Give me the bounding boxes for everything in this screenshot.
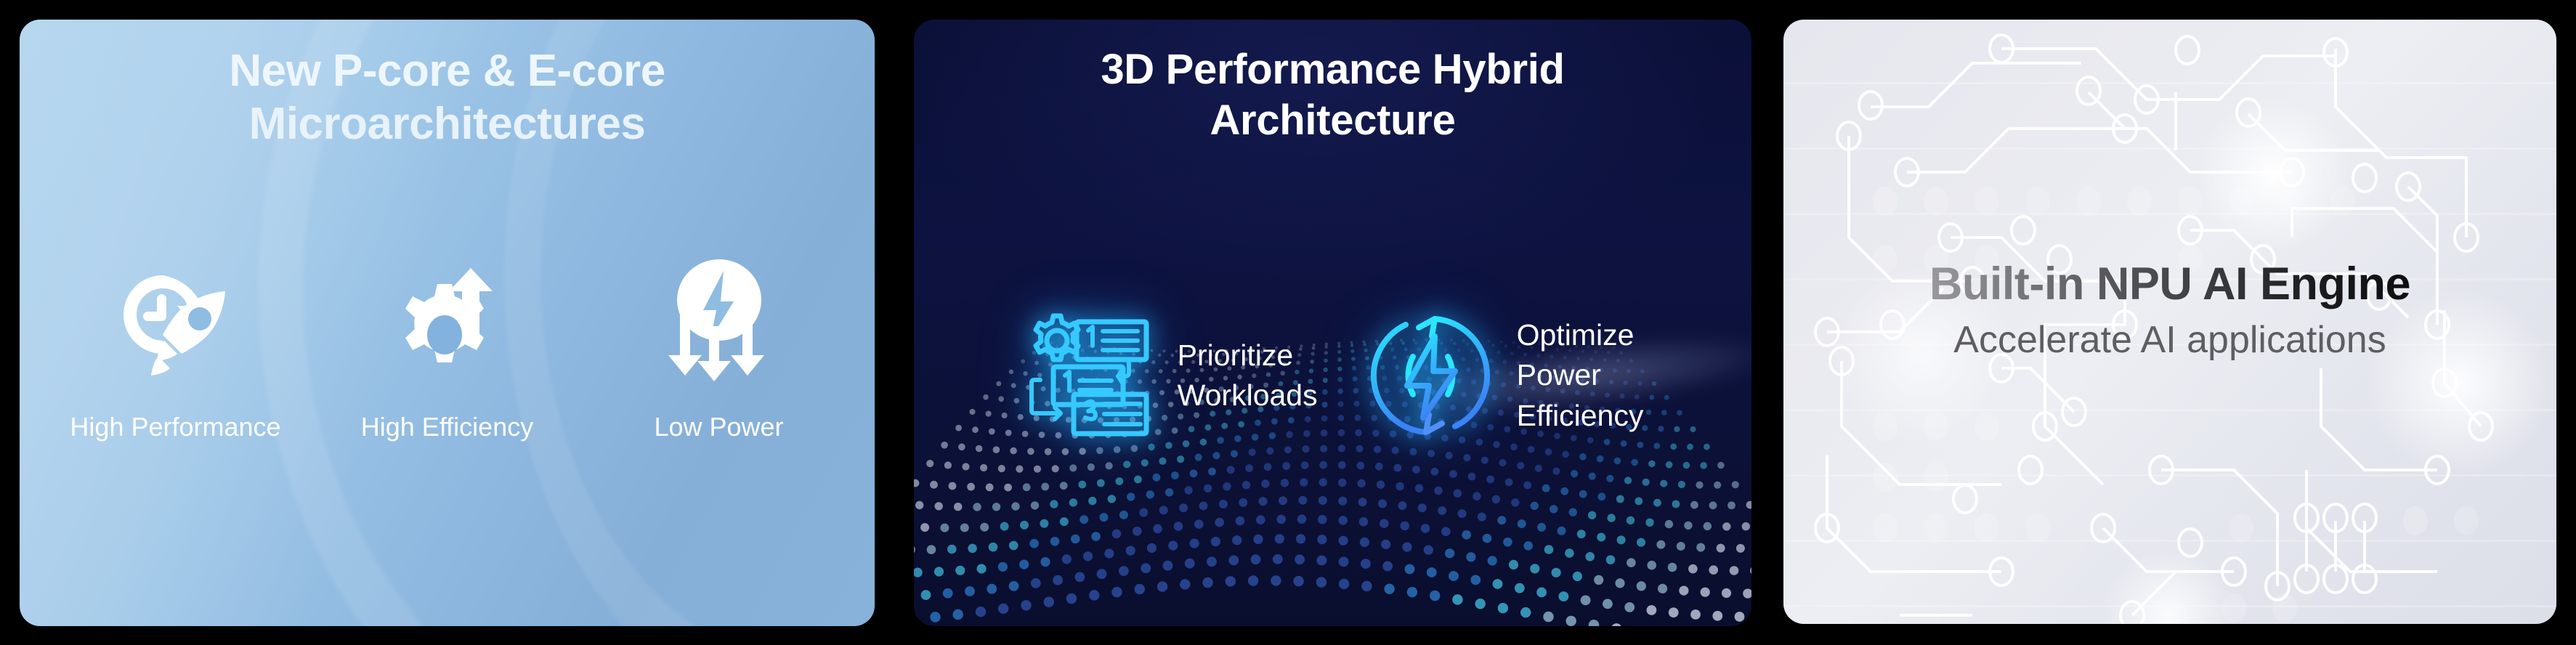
feature-label-line3: Efficiency [1517,396,1644,436]
gear-up-arrow-icon [386,259,509,381]
gear-task-list-icon [1022,303,1160,448]
feature-low-power[interactable]: Low Power [610,259,828,442]
feature-label: Optimize Power Efficiency [1517,315,1644,436]
card-hybrid-architecture[interactable]: 3D Performance Hybrid Architecture [914,20,1751,626]
feature-label-line2: Workloads [1178,376,1318,415]
feature-label: Prioritize Workloads [1178,336,1318,416]
card-npu-ai-engine[interactable]: Built-in NPU AI Engine Accelerate AI app… [1783,20,2556,624]
feature-prioritize-workloads[interactable]: Prioritize Workloads [1022,303,1318,448]
clock-rocket-icon [115,259,237,381]
panel2-title: 3D Performance Hybrid Architecture [914,44,1751,145]
feature-label-line1: Prioritize [1178,336,1318,376]
feature-label-line2: Power [1517,355,1644,395]
feature-card-row: New P-core & E-core Microarchitectures [0,0,2576,645]
feature-high-performance[interactable]: High Performance [67,259,285,442]
power-cycle-bolt-icon [1361,303,1499,448]
panel1-title-line1: New P-core & E-core [20,44,875,97]
card-p-core-e-core[interactable]: New P-core & E-core Microarchitectures [20,20,875,626]
panel3-subtitle: Accelerate AI applications [1783,320,2556,361]
feature-high-efficiency[interactable]: High Efficiency [339,259,556,442]
lightning-down-arrows-icon [661,259,777,381]
panel3-title: Built-in NPU AI Engine [1929,259,2410,309]
feature-label: High Efficiency [361,412,533,442]
feature-label-line1: Optimize [1517,315,1644,355]
panel1-title-line2: Microarchitectures [20,97,875,150]
panel2-title-line2: Architecture [914,95,1751,146]
feature-optimize-power-efficiency[interactable]: Optimize Power Efficiency [1361,303,1644,448]
panel2-title-line1: 3D Performance Hybrid [914,44,1751,95]
panel3-text-block: Built-in NPU AI Engine Accelerate AI app… [1783,259,2556,361]
panel1-title: New P-core & E-core Microarchitectures [20,44,875,150]
panel1-feature-list: High Performance High Efficiency [20,259,875,442]
feature-label: Low Power [654,412,783,442]
panel2-feature-list: Prioritize Workloads [943,303,1722,448]
feature-label: High Performance [70,412,280,442]
